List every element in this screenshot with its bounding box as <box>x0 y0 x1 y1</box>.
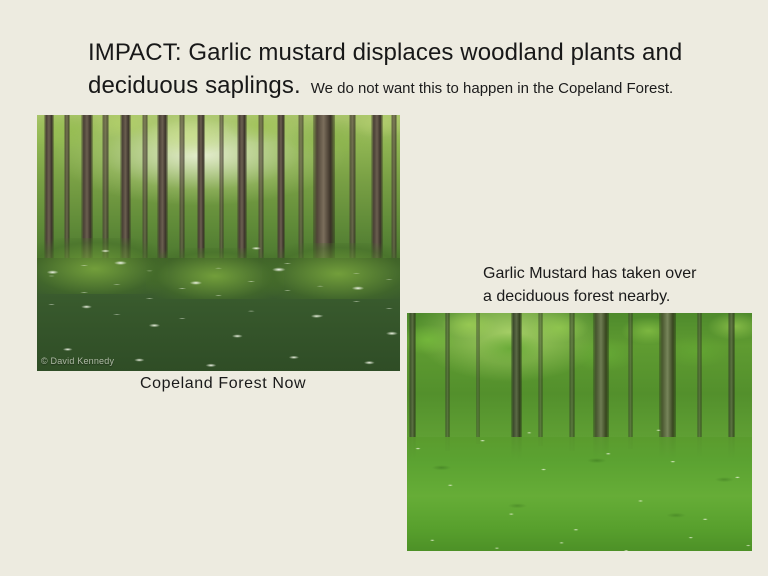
caption-invaded-line-1: Garlic Mustard has taken over <box>483 262 713 285</box>
title-subtitle: We do not want this to happen in the Cop… <box>301 80 673 97</box>
photo-invaded-content <box>407 313 752 551</box>
caption-invaded-line-2: a deciduous forest nearby. <box>483 285 713 308</box>
slide-canvas: IMPACT: Garlic mustard displaces woodlan… <box>0 0 768 576</box>
photo-copeland-forest: © David Kennedy <box>37 115 400 371</box>
photo-copeland-content: © David Kennedy <box>37 115 400 371</box>
photo-credit-watermark: © David Kennedy <box>41 356 114 366</box>
slide-title-block: IMPACT: Garlic mustard displaces woodlan… <box>88 36 708 105</box>
caption-invaded-forest: Garlic Mustard has taken over a deciduou… <box>483 262 713 308</box>
caption-copeland-forest: Copeland Forest Now <box>140 375 306 393</box>
trillium-carpet <box>37 243 400 371</box>
title-line-1: IMPACT: Garlic mustard displaces woodlan… <box>88 36 708 69</box>
photo-invaded-forest <box>407 313 752 551</box>
garlic-mustard-flowers <box>407 425 752 551</box>
title-line-2: deciduous saplings. <box>88 72 301 99</box>
title-line-2-row: deciduous saplings.We do not want this t… <box>88 69 708 105</box>
